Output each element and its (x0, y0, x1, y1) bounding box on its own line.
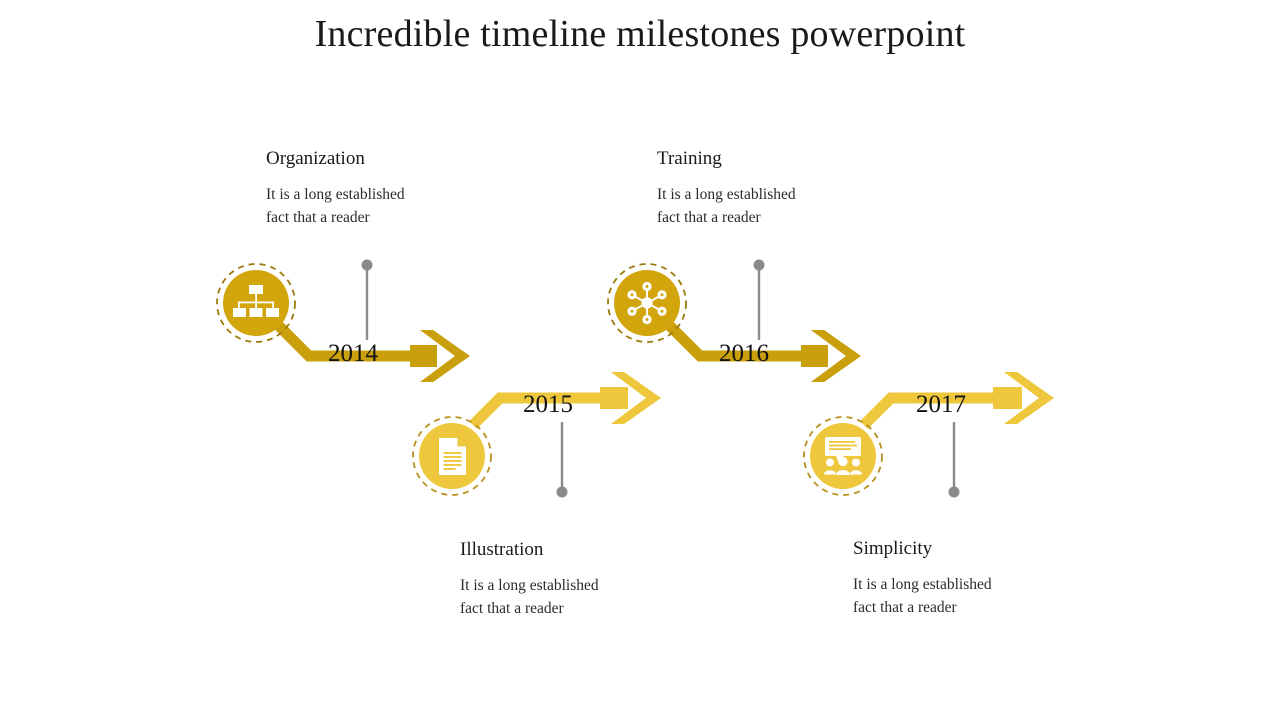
pin-training (754, 260, 765, 341)
milestone-node-illustration[interactable] (413, 417, 491, 495)
year-label-2014: 2014 (328, 340, 378, 368)
year-label-2017: 2017 (916, 391, 966, 419)
milestone-body-line2: fact that a reader (266, 209, 370, 226)
milestone-body-simplicity: It is a long established fact that a rea… (853, 573, 1083, 619)
pin-illustration (557, 422, 568, 498)
milestone-body-illustration: It is a long established fact that a rea… (460, 574, 690, 620)
milestone-body-line2: fact that a reader (460, 600, 564, 617)
milestone-heading-simplicity: Simplicity (853, 537, 1083, 561)
pin-simplicity (949, 422, 960, 498)
document-icon (439, 438, 466, 475)
milestone-body-line2: fact that a reader (657, 209, 761, 226)
milestone-body-organization: It is a long established fact that a rea… (266, 183, 496, 229)
milestone-body-line1: It is a long established (853, 576, 992, 593)
milestone-body-line2: fact that a reader (853, 599, 957, 616)
milestone-heading-illustration: Illustration (460, 538, 690, 562)
milestone-node-simplicity[interactable] (804, 417, 882, 495)
milestone-text-training: Training It is a long established fact t… (657, 147, 887, 229)
milestone-heading-training: Training (657, 147, 887, 171)
slide-canvas: Incredible timeline milestones powerpoin… (0, 0, 1280, 720)
milestone-text-simplicity: Simplicity It is a long established fact… (853, 537, 1083, 619)
milestone-text-illustration: Illustration It is a long established fa… (460, 538, 690, 620)
year-label-2016: 2016 (719, 340, 769, 368)
milestone-body-training: It is a long established fact that a rea… (657, 183, 887, 229)
milestone-heading-organization: Organization (266, 147, 496, 171)
milestone-body-line1: It is a long established (266, 186, 405, 203)
pin-organization (362, 260, 373, 341)
milestone-body-line1: It is a long established (657, 186, 796, 203)
milestone-body-line1: It is a long established (460, 577, 599, 594)
milestone-text-organization: Organization It is a long established fa… (266, 147, 496, 229)
year-label-2015: 2015 (523, 391, 573, 419)
